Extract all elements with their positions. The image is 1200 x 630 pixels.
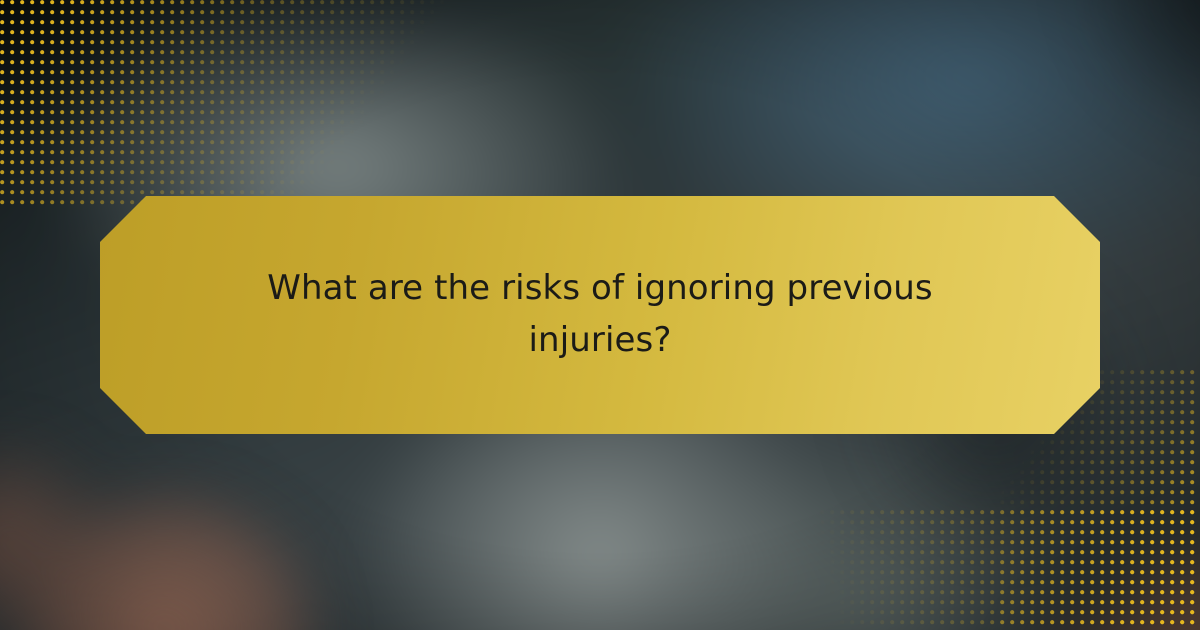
question-text: What are the risks of ignoring previous …	[230, 263, 970, 366]
question-banner: What are the risks of ignoring previous …	[100, 196, 1100, 434]
social-card-canvas: What are the risks of ignoring previous …	[0, 0, 1200, 630]
